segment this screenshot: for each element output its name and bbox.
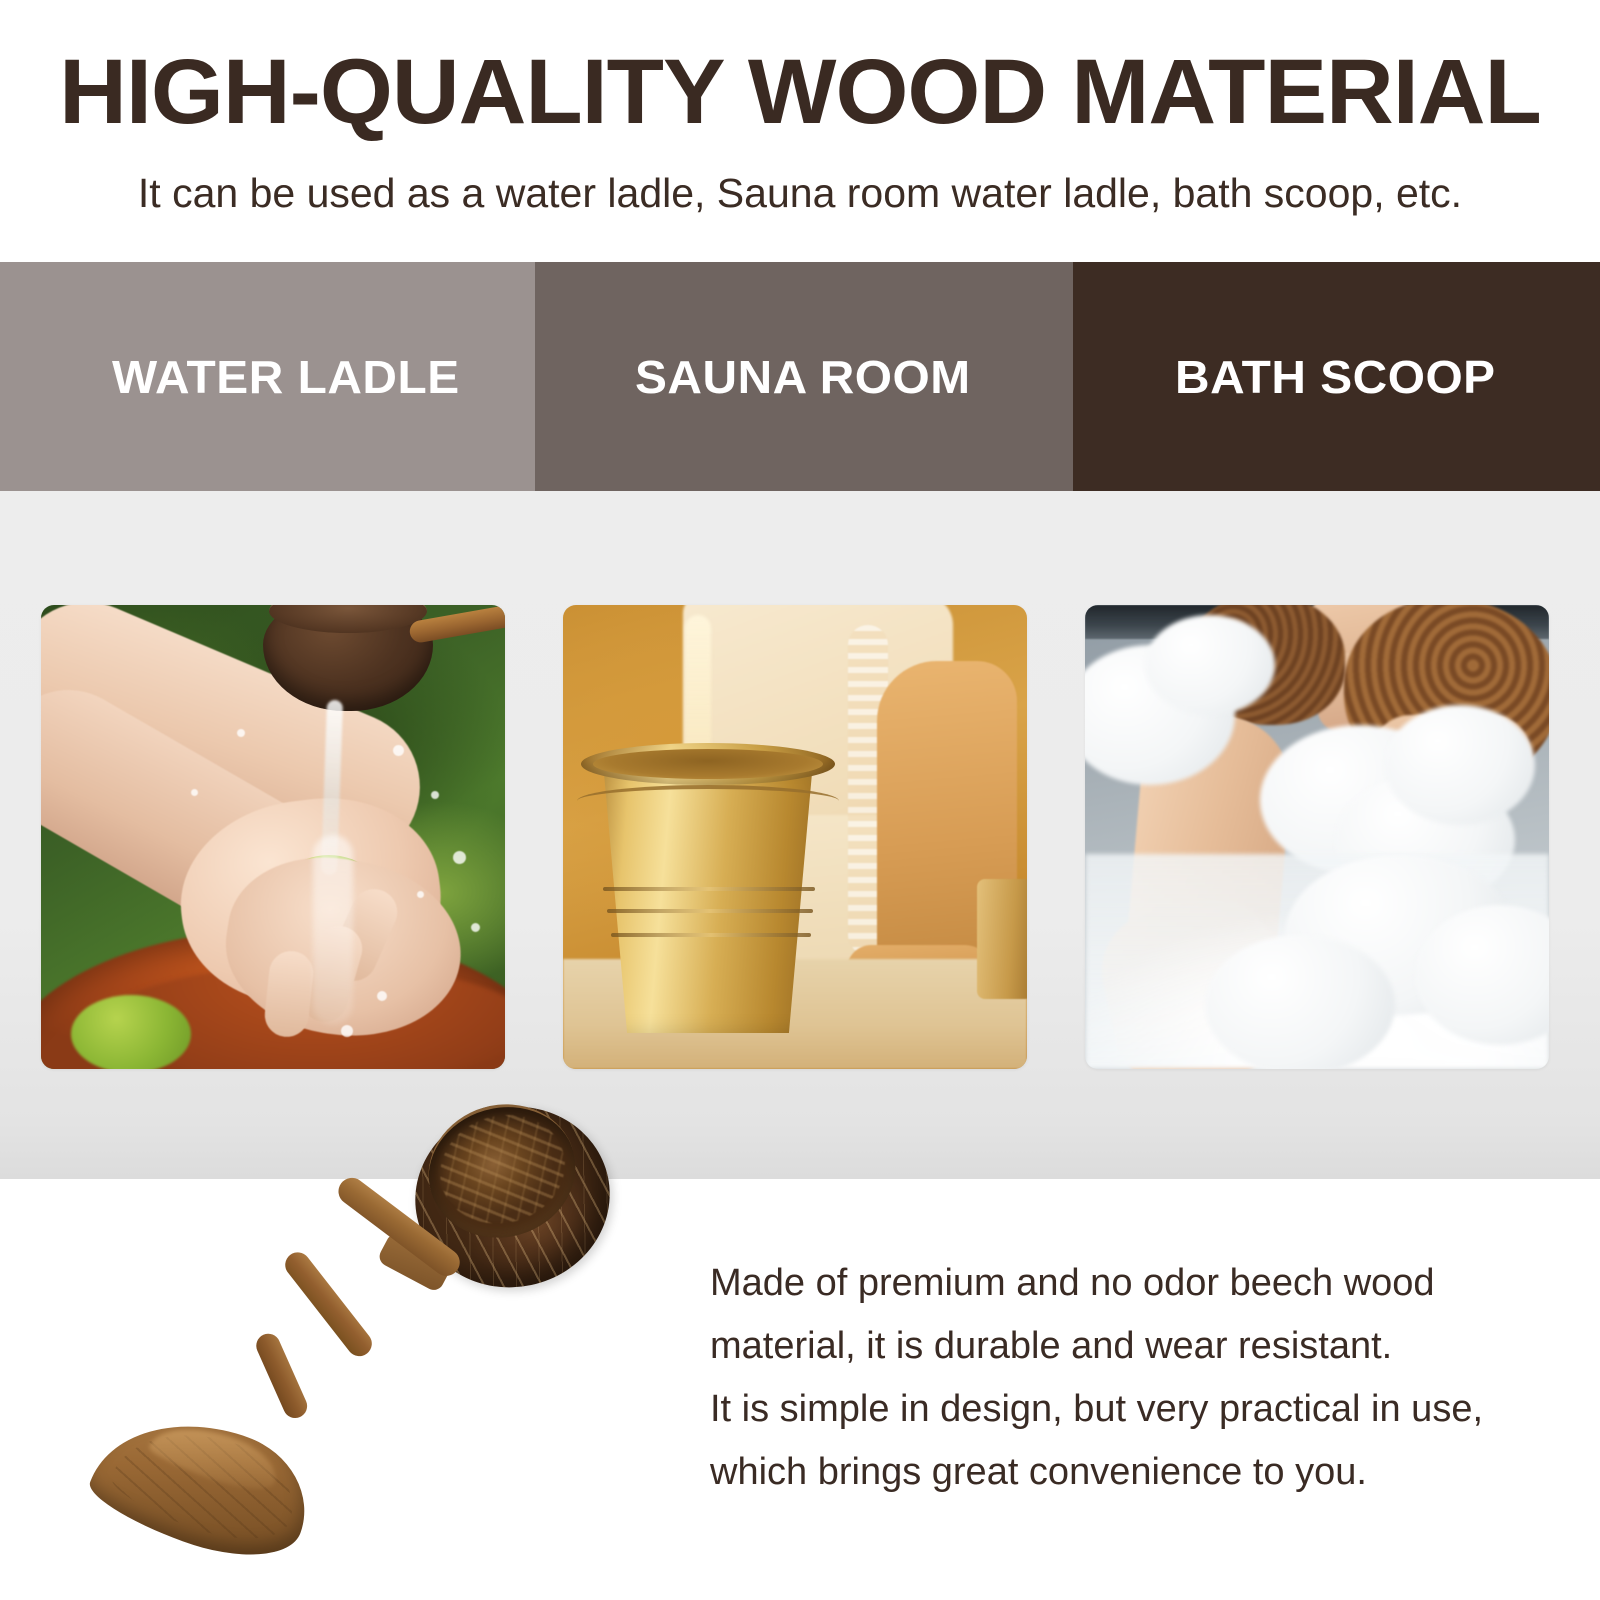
description-line-3: It is simple in design, but very practic… (710, 1378, 1500, 1441)
description-line-4: which brings great convenience to you. (710, 1441, 1500, 1504)
water-drop (393, 745, 404, 756)
tab-sauna-room-label: SAUNA ROOM (635, 350, 971, 404)
bath-scoop-photo (1085, 605, 1549, 1069)
description-line-1: Made of premium and no odor beech wood (710, 1252, 1500, 1315)
tab-water-ladle-label: WATER LADLE (112, 350, 460, 404)
tab-bath-scoop-label: BATH SCOOP (1175, 350, 1496, 404)
water-drop (341, 1025, 353, 1037)
product-description: Made of premium and no odor beech wood m… (710, 1252, 1500, 1504)
photo-row (41, 605, 1549, 1069)
side-container (977, 879, 1027, 999)
usage-tab-bar: WATER LADLE SAUNA ROOM BATH SCOOP (0, 262, 1600, 491)
water-ladle-photo (41, 605, 505, 1069)
tab-water-ladle[interactable]: WATER LADLE (0, 262, 535, 491)
photo-panel (0, 491, 1600, 1179)
bucket-interior (593, 749, 823, 779)
ladle-handle-tip (82, 1392, 325, 1578)
header-section: HIGH-QUALITY WOOD MATERIAL It can be use… (0, 0, 1600, 262)
foam-cluster (1145, 615, 1275, 715)
bucket-band (607, 909, 813, 913)
wooden-coconut-ladle-illustration (80, 1085, 700, 1585)
water-drop (377, 991, 387, 1001)
water-drop (453, 851, 466, 864)
page-title: HIGH-QUALITY WOOD MATERIAL (0, 44, 1600, 140)
foam-cluster (1205, 935, 1395, 1069)
water-drop (417, 891, 424, 898)
tab-bath-scoop[interactable]: BATH SCOOP (1073, 262, 1600, 491)
apple-in-bowl (71, 995, 191, 1069)
water-drop (431, 791, 439, 799)
metal-bucket (589, 765, 827, 1033)
foam-cluster (1385, 705, 1535, 825)
water-drop (471, 923, 480, 932)
water-drop (191, 789, 198, 796)
bucket-band (611, 933, 811, 937)
ladle-handle-lower (252, 1330, 311, 1422)
tab-sauna-room[interactable]: SAUNA ROOM (535, 262, 1073, 491)
description-line-2: material, it is durable and wear resista… (710, 1315, 1500, 1378)
water-splash (313, 835, 353, 1025)
water-drop (237, 729, 245, 737)
sauna-room-photo (563, 605, 1027, 1069)
bucket-band (603, 887, 815, 891)
page-subtitle: It can be used as a water ladle, Sauna r… (0, 168, 1600, 218)
ladle-handle-middle (280, 1247, 377, 1361)
